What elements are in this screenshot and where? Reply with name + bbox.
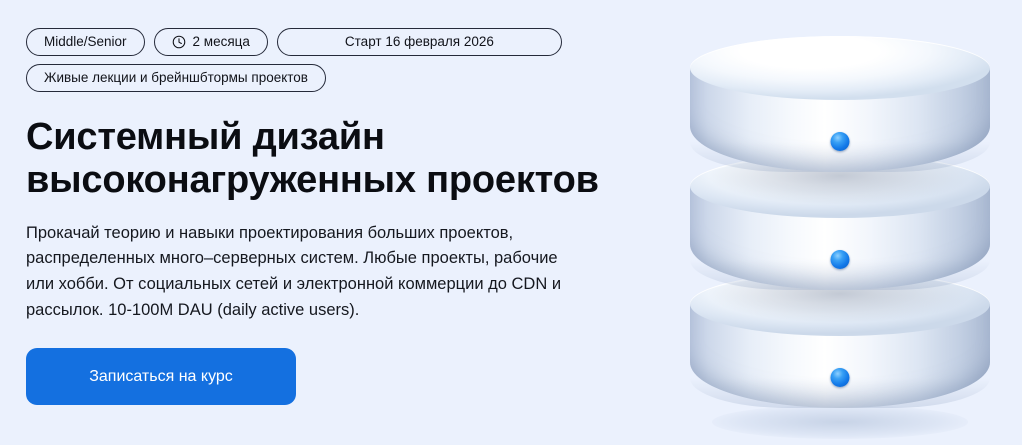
disc-top-top bbox=[690, 36, 990, 100]
badge-start-date-label: Старт 16 февраля 2026 bbox=[345, 35, 494, 49]
page-title: Системный дизайн высоконагруженных проек… bbox=[26, 116, 666, 202]
badge-format[interactable]: Живые лекции и брейншбтормы проектов bbox=[26, 64, 326, 92]
badge-duration-label: 2 месяца bbox=[193, 35, 250, 49]
hero-text-column: Middle/Senior 2 месяца Старт 16 февраля … bbox=[26, 28, 666, 405]
badge-level-label: Middle/Senior bbox=[44, 35, 127, 49]
course-hero-banner: Middle/Senior 2 месяца Старт 16 февраля … bbox=[0, 0, 1022, 445]
status-led-bottom bbox=[831, 368, 850, 387]
badge-start-date[interactable]: Старт 16 февраля 2026 bbox=[277, 28, 562, 56]
illustration-floor-shadow bbox=[712, 405, 968, 439]
clock-icon bbox=[172, 35, 186, 49]
badge-duration[interactable]: 2 месяца bbox=[154, 28, 268, 56]
status-led-middle bbox=[831, 250, 850, 269]
course-meta-badges: Middle/Senior 2 месяца Старт 16 февраля … bbox=[26, 28, 596, 92]
course-description: Прокачай теорию и навыки проектирования … bbox=[26, 221, 571, 323]
badge-format-label: Живые лекции и брейншбтормы проектов bbox=[44, 71, 308, 85]
badge-level[interactable]: Middle/Senior bbox=[26, 28, 145, 56]
status-led-top bbox=[831, 132, 850, 151]
database-stack-illustration bbox=[674, 18, 1004, 445]
database-stack bbox=[674, 18, 1004, 445]
enroll-button[interactable]: Записаться на курс bbox=[26, 348, 296, 405]
